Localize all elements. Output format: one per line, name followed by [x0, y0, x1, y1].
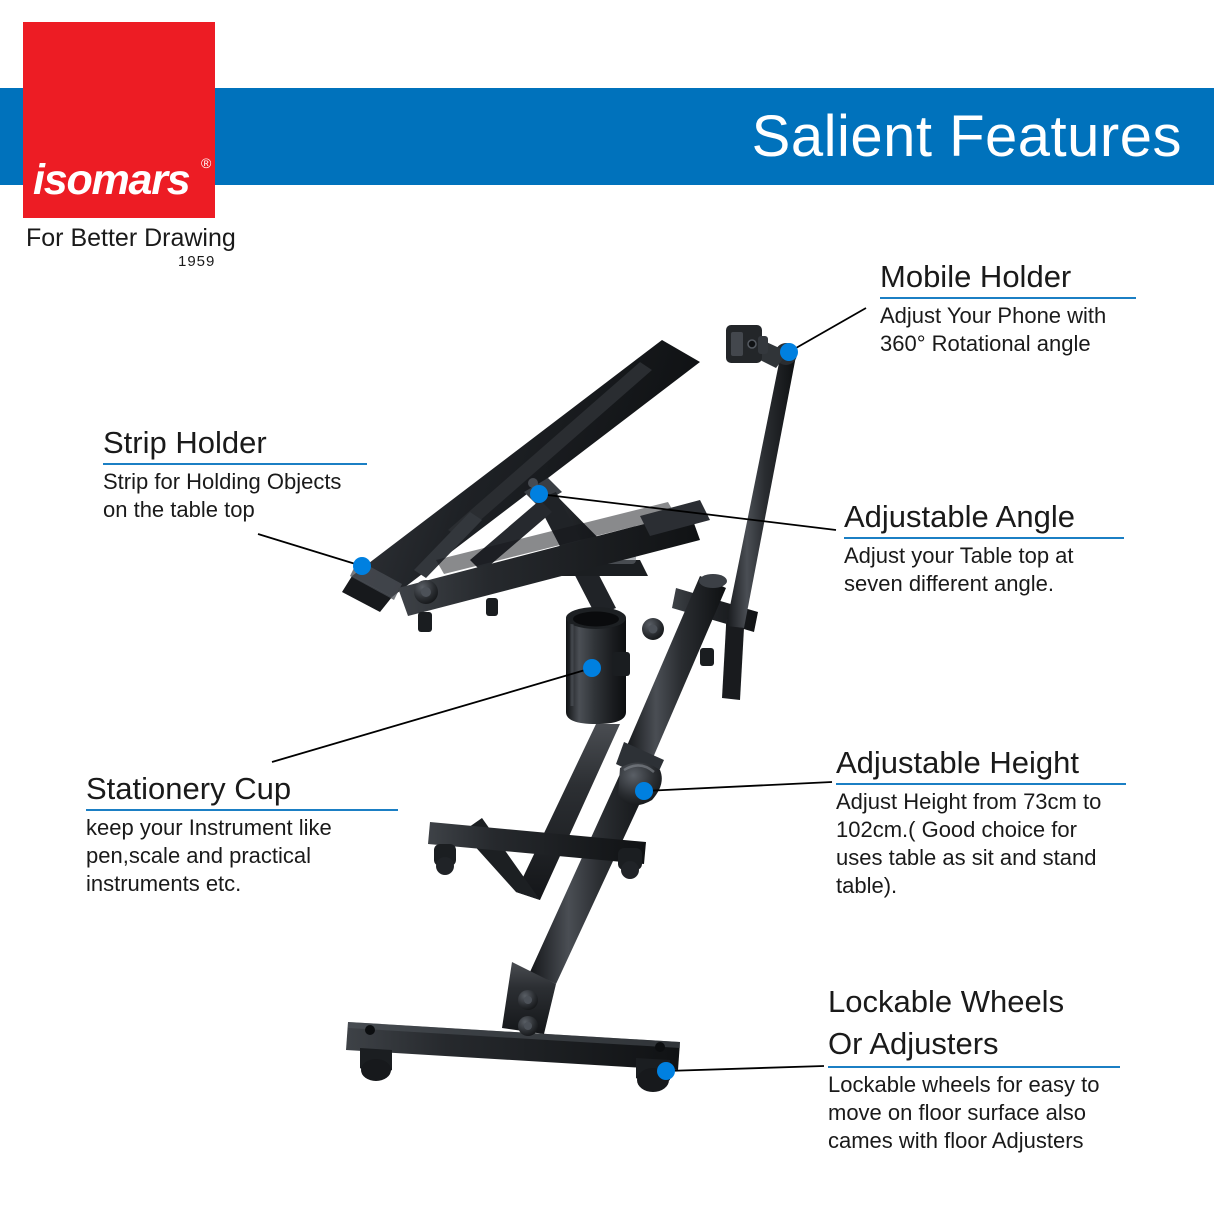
- frame-bolt-left: [414, 580, 438, 604]
- registered-trademark-icon: ®: [201, 156, 211, 170]
- leader-line-adjustable-height: [644, 782, 832, 791]
- tilt-brace-diagonal: [470, 500, 552, 572]
- leader-line-stationery-cup: [272, 668, 592, 762]
- callout-title-adjustable-height: Adjustable Height: [836, 744, 1126, 782]
- phone-clamp-body: [726, 325, 762, 363]
- callout-title-mobile-holder: Mobile Holder: [880, 258, 1136, 296]
- callout-body-line: uses table as sit and stand: [836, 844, 1126, 872]
- callout-rule-adjustable-height: [836, 783, 1126, 785]
- frame-bolt-left-center: [421, 587, 431, 597]
- tabletop-panel: [352, 340, 700, 597]
- base-bar-body: [346, 1022, 680, 1070]
- base-bolt-lower: [518, 1016, 538, 1036]
- callout-body-line: seven different angle.: [844, 570, 1124, 598]
- callout-body-line: on the table top: [103, 496, 367, 524]
- callout-strip-holder: Strip Holder Strip for Holding Objects o…: [103, 424, 367, 524]
- callout-body-line: cames with floor Adjusters: [828, 1127, 1120, 1155]
- callout-title-stationery-cup: Stationery Cup: [86, 770, 398, 808]
- mid-castor-left-wheel: [436, 857, 454, 875]
- callout-dot-adjustable-height: [635, 782, 653, 800]
- callout-title-adjustable-angle: Adjustable Angle: [844, 498, 1124, 536]
- rail-clamp-d: [700, 648, 714, 666]
- mobile-holder-post-lower: [722, 626, 744, 700]
- leader-line-adjustable-angle: [539, 494, 836, 530]
- base-bolt-upper: [518, 990, 538, 1010]
- leader-lines: [258, 308, 866, 1071]
- base-bar-hole-right: [655, 1042, 665, 1052]
- callout-dot-adjustable-angle: [530, 485, 548, 503]
- mid-castor-right-housing: [618, 848, 642, 870]
- base-bolt-lower-center: [524, 1022, 532, 1030]
- callout-title-lockable-wheels: Lockable Wheels Or Adjusters: [828, 981, 1120, 1065]
- leader-line-strip-holder: [258, 534, 362, 566]
- mobile-holder-joint: [775, 343, 797, 365]
- tilt-lock-bar: [556, 560, 648, 576]
- frame-bolt-right: [642, 618, 664, 640]
- tilt-strut-lower: [536, 492, 616, 616]
- cup-body: [566, 618, 626, 724]
- phone-clamp-jaw: [731, 332, 743, 356]
- height-clamp-lever: [618, 762, 662, 805]
- callout-stationery-cup: Stationery Cup keep your Instrument like…: [86, 770, 398, 898]
- callout-title-line: Or Adjusters: [828, 1023, 1120, 1065]
- height-clamp-highlight: [624, 765, 654, 772]
- mobile-holder-post: [726, 356, 796, 628]
- callout-body-line: keep your Instrument like: [86, 814, 398, 842]
- rail-clamps: [418, 598, 714, 676]
- mobile-holder: [722, 325, 797, 700]
- mid-castor-right-wheel: [621, 861, 639, 879]
- callout-body-line: Adjust Your Phone with: [880, 302, 1136, 330]
- castor-left-housing: [360, 1048, 392, 1075]
- base-column: [502, 962, 556, 1034]
- upper-frame: [398, 500, 758, 640]
- callout-dots: [353, 343, 798, 1080]
- brand-year: 1959: [178, 254, 215, 269]
- callout-body-lockable-wheels: Lockable wheels for easy to move on floo…: [828, 1071, 1120, 1155]
- rail-clamp-b: [486, 598, 498, 616]
- callout-rule-lockable-wheels: [828, 1066, 1120, 1068]
- callout-body-line: Strip for Holding Objects: [103, 468, 367, 496]
- frame-rail-rear: [640, 500, 710, 536]
- brand-logo: isomars ®: [23, 22, 215, 218]
- callout-body-stationery-cup: keep your Instrument like pen,scale and …: [86, 814, 398, 898]
- callout-body-line: Lockable wheels for easy to: [828, 1071, 1120, 1099]
- callout-dot-lockable-wheels: [657, 1062, 675, 1080]
- tabletop-edge: [342, 576, 392, 612]
- front-leg-knee: [462, 818, 540, 900]
- stationery-cup: [566, 607, 626, 724]
- phone-clamp-screw: [748, 340, 756, 348]
- callout-title-strip-holder: Strip Holder: [103, 424, 367, 462]
- frame-rail-front: [398, 512, 700, 616]
- callout-body-line: table).: [836, 872, 1126, 900]
- base-bar: [346, 962, 680, 1092]
- callout-body-strip-holder: Strip for Holding Objects on the table t…: [103, 468, 367, 524]
- rail-clamp-c: [612, 652, 630, 676]
- frame-bolt-right-center: [649, 625, 658, 634]
- front-leg-upper: [516, 724, 620, 900]
- page-title: Salient Features: [562, 92, 1182, 182]
- leader-line-mobile-holder: [789, 308, 866, 352]
- mid-crossbar-body: [428, 822, 646, 864]
- rail-clamp-a: [418, 612, 432, 632]
- callout-title-line: Lockable Wheels: [828, 981, 1120, 1023]
- castor-left-wheel: [361, 1059, 391, 1081]
- mid-crossbar: [428, 822, 646, 879]
- frame-crossbar-right: [672, 588, 758, 632]
- tilt-strut-upper: [530, 487, 620, 572]
- cup-interior: [573, 612, 619, 627]
- callout-rule-adjustable-angle: [844, 537, 1124, 539]
- callout-dot-stationery-cup: [583, 659, 601, 677]
- base-bar-hole-left: [365, 1025, 375, 1035]
- callout-body-line: 360° Rotational angle: [880, 330, 1136, 358]
- cup-rim-outer: [566, 607, 626, 629]
- callout-body-line: pen,scale and practical: [86, 842, 398, 870]
- tilt-release-lever: [596, 548, 636, 564]
- height-leg-lower-tube: [530, 752, 658, 984]
- brand-wordmark: isomars: [33, 159, 205, 202]
- mid-castor-left-housing: [434, 844, 456, 866]
- strip-holder-rail: [350, 560, 402, 600]
- tabletop-assembly: [342, 340, 700, 612]
- callout-body-line: instruments etc.: [86, 870, 398, 898]
- callout-body-adjustable-angle: Adjust your Table top at seven different…: [844, 542, 1124, 598]
- tabletop-support-bar: [448, 362, 652, 538]
- callout-dot-strip-holder: [353, 557, 371, 575]
- callout-body-mobile-holder: Adjust Your Phone with 360° Rotational a…: [880, 302, 1136, 358]
- tabletop-cross-brace: [414, 512, 482, 578]
- callout-body-line: move on floor surface also: [828, 1099, 1120, 1127]
- callout-body-line: Adjust your Table top at: [844, 542, 1124, 570]
- leader-line-lockable-wheels: [666, 1066, 824, 1071]
- callout-body-adjustable-height: Adjust Height from 73cm to 102cm.( Good …: [836, 788, 1126, 900]
- tilt-bolt: [528, 478, 538, 488]
- infographic-page: Salient Features isomars ® For Better Dr…: [0, 0, 1214, 1214]
- height-leg-cap: [699, 574, 727, 588]
- tilt-mechanism: [470, 478, 648, 616]
- mobile-holder-arm: [752, 340, 788, 368]
- castor-right-housing: [636, 1058, 670, 1085]
- tilt-pivot-plate: [524, 478, 562, 506]
- callout-adjustable-height: Adjustable Height Adjust Height from 73c…: [836, 744, 1126, 900]
- castor-right-wheel: [637, 1068, 669, 1092]
- callout-body-line: 102cm.( Good choice for: [836, 816, 1126, 844]
- base-bolt-upper-center: [524, 996, 532, 1004]
- height-leg-upper-tube: [626, 576, 726, 760]
- callout-body-line: Adjust Height from 73cm to: [836, 788, 1126, 816]
- front-leg: [462, 724, 620, 900]
- callout-adjustable-angle: Adjustable Angle Adjust your Table top a…: [844, 498, 1124, 598]
- height-adjust-leg: [530, 574, 727, 984]
- base-bar-top-highlight: [348, 1022, 680, 1048]
- phone-clamp-knuckle: [758, 336, 768, 354]
- callout-rule-strip-holder: [103, 463, 367, 465]
- callout-lockable-wheels: Lockable Wheels Or Adjusters Lockable wh…: [828, 981, 1120, 1155]
- callout-dot-mobile-holder: [780, 343, 798, 361]
- height-collar: [616, 742, 664, 782]
- callout-rule-stationery-cup: [86, 809, 398, 811]
- callout-mobile-holder: Mobile Holder Adjust Your Phone with 360…: [880, 258, 1136, 358]
- callout-rule-mobile-holder: [880, 297, 1136, 299]
- drafting-table-illustration: [342, 325, 797, 1092]
- frame-fastener: [726, 618, 742, 640]
- frame-rail-shadow: [436, 502, 676, 574]
- brand-tagline: For Better Drawing: [26, 226, 236, 251]
